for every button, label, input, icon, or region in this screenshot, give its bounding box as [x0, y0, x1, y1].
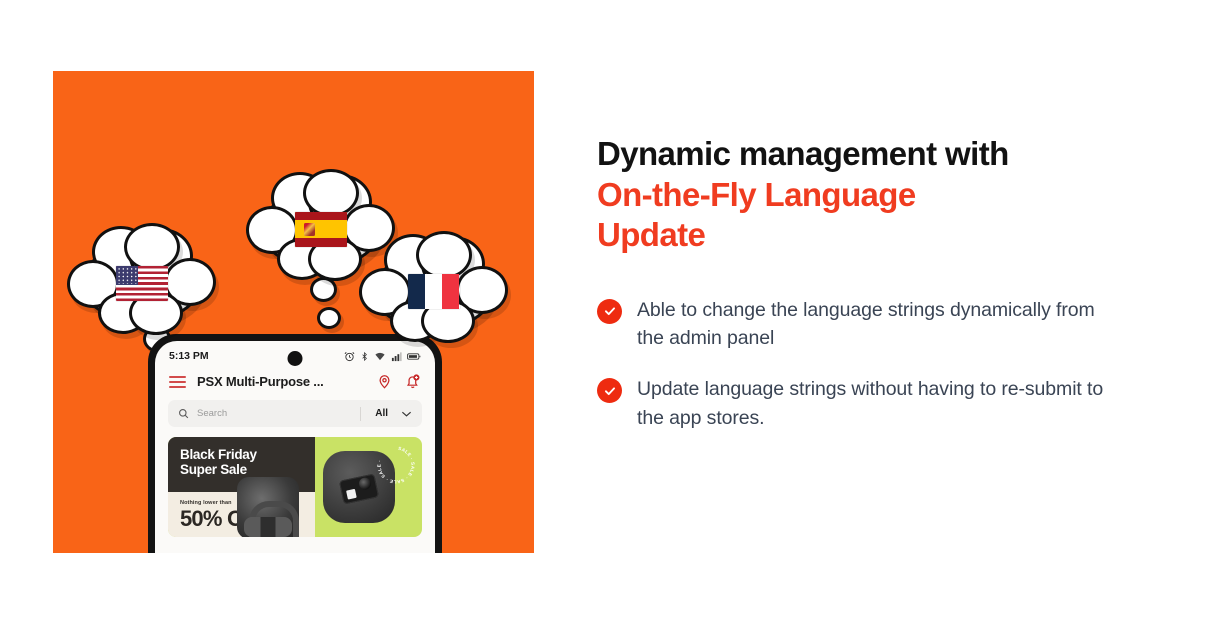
check-circle-icon — [597, 378, 622, 403]
thought-bubble-shape — [81, 243, 202, 323]
thought-bubble-shape — [260, 189, 381, 269]
battery-icon — [407, 351, 421, 362]
bluetooth-icon — [360, 351, 369, 362]
chevron-down-icon[interactable] — [401, 410, 412, 418]
page-title: Dynamic management with On-the-Fly Langu… — [597, 134, 1197, 256]
headline-line-2: On-the-Fly Language — [597, 175, 1197, 216]
united-states-flag-icon — [116, 266, 168, 301]
search-icon — [178, 408, 189, 419]
phone-mockup: 5:13 PM — [148, 334, 442, 553]
search-divider — [360, 407, 361, 421]
phone-app-bar: PSX Multi-Purpose ... — [155, 367, 435, 398]
us-flag-bubble — [81, 243, 202, 323]
france-flag-icon — [408, 274, 460, 309]
headline-line-1: Dynamic management with — [597, 134, 1197, 175]
france-flag-bubble — [373, 251, 494, 331]
front-camera-punch-hole — [288, 351, 303, 366]
content-column: Dynamic management with On-the-Fly Langu… — [597, 134, 1197, 455]
promo-left-column: Black Friday Super Sale Nothing lower th… — [168, 437, 315, 537]
bubble-tail-dot — [317, 307, 341, 329]
thought-bubble-shape — [373, 251, 494, 331]
list-item: Able to change the language strings dyna… — [597, 296, 1197, 353]
feature-bullet-list: Able to change the language strings dyna… — [597, 296, 1197, 432]
phone-screen: 5:13 PM — [155, 341, 435, 553]
sale-ring-badge: SALE · SALE · SALE · SALE · — [374, 443, 418, 487]
headline-line-3: Update — [597, 215, 1197, 256]
hero-illustration-panel: 5:13 PM — [53, 71, 534, 553]
headphones-product-image — [237, 477, 299, 537]
location-pin-icon[interactable] — [377, 373, 392, 390]
search-bar[interactable]: Search All — [168, 400, 422, 427]
status-time: 5:13 PM — [169, 350, 209, 362]
bullet-text: Able to change the language strings dyna… — [637, 296, 1107, 353]
notification-bell-icon[interactable] — [405, 373, 421, 390]
alarm-icon — [344, 351, 355, 362]
svg-text:SALE · SALE · SALE · SALE ·: SALE · SALE · SALE · SALE · — [377, 446, 416, 485]
check-circle-icon — [597, 299, 622, 324]
spain-flag-icon — [295, 212, 347, 247]
status-icon-group — [344, 351, 421, 362]
promo-right-column: SALE · SALE · SALE · SALE · — [315, 437, 422, 537]
promo-title: Black Friday Super Sale — [180, 447, 315, 477]
promo-banner[interactable]: Black Friday Super Sale Nothing lower th… — [168, 437, 422, 537]
search-input[interactable]: Search — [197, 408, 360, 419]
list-item: Update language strings without having t… — [597, 375, 1197, 432]
spain-flag-bubble — [260, 189, 381, 269]
hamburger-icon[interactable] — [169, 376, 186, 388]
sale-ring-text: SALE · SALE · SALE · SALE · — [377, 446, 416, 485]
app-bar-icon-group — [377, 373, 421, 390]
bullet-text: Update language strings without having t… — [637, 375, 1107, 432]
category-filter-value[interactable]: All — [375, 408, 388, 419]
wifi-icon — [374, 351, 386, 362]
app-title: PSX Multi-Purpose ... — [197, 374, 366, 389]
signal-icon — [391, 351, 402, 362]
